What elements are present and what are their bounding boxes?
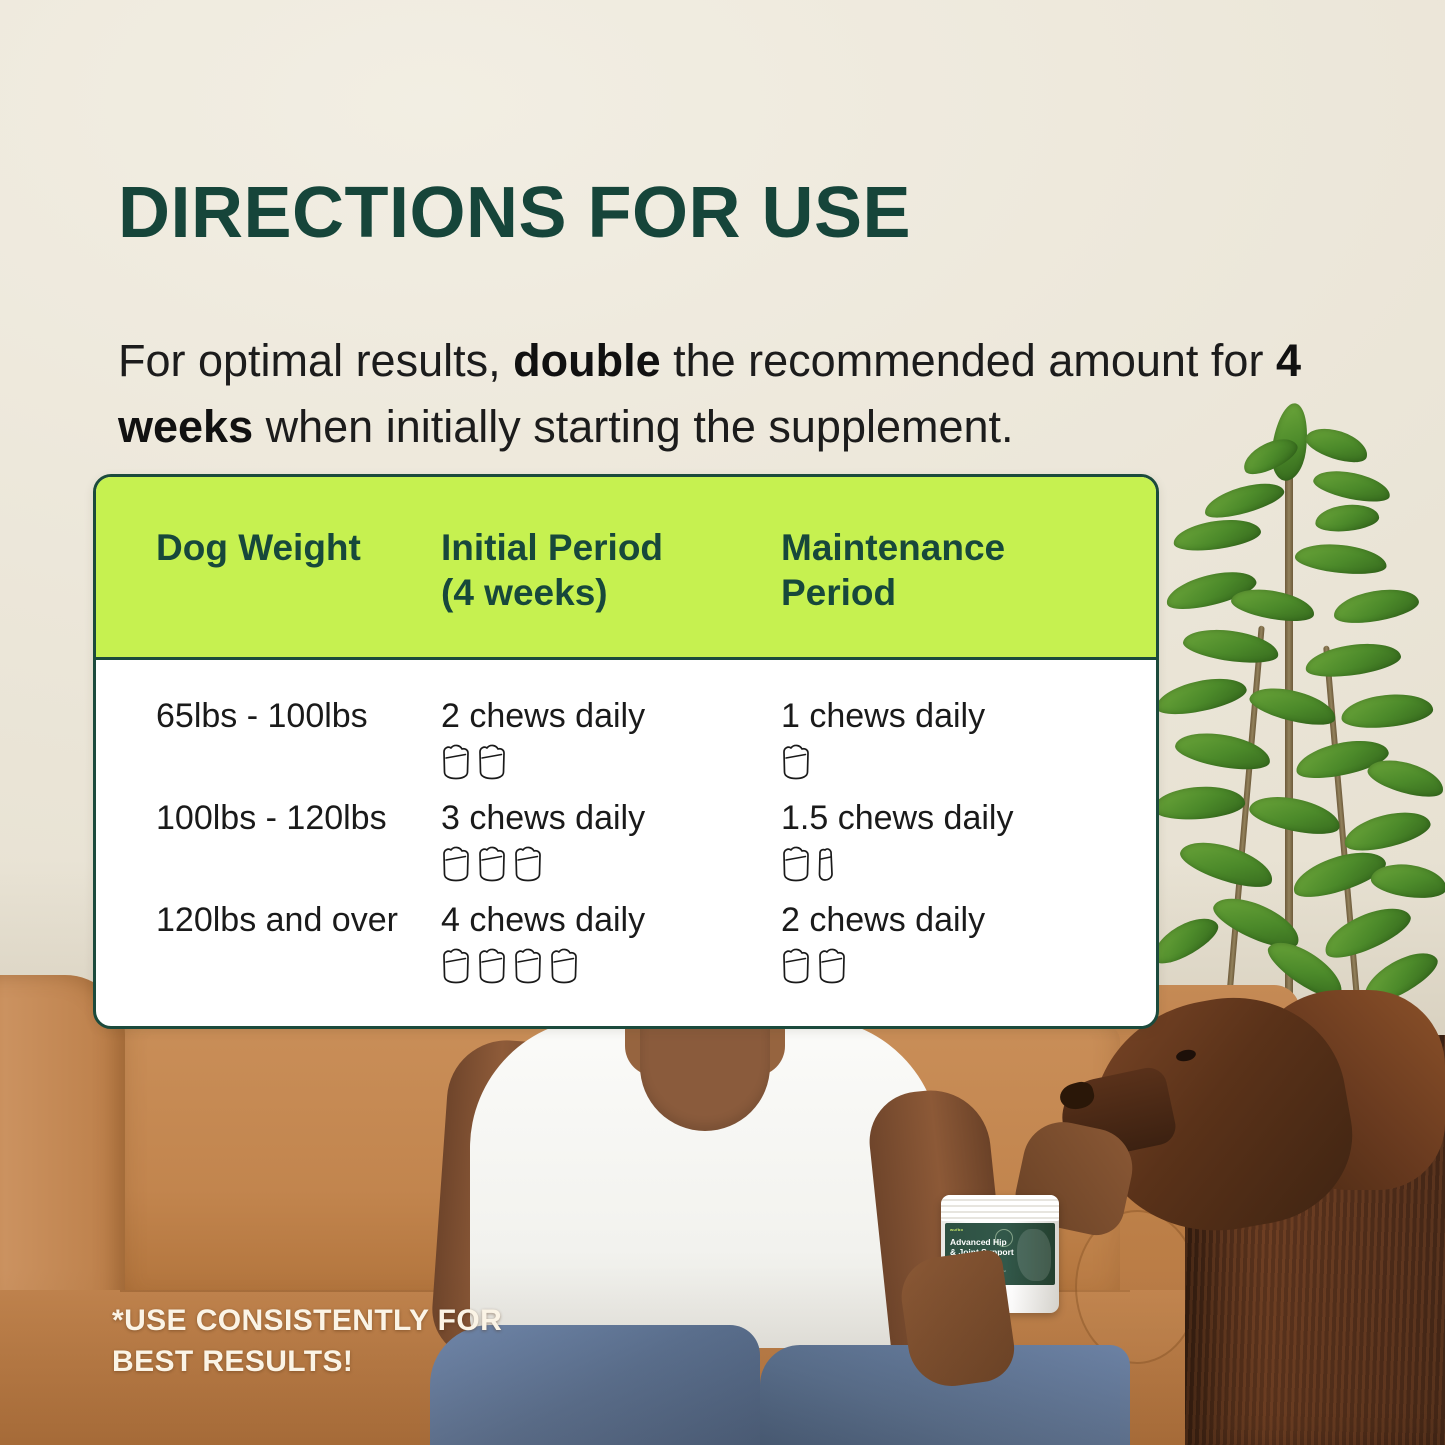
cell-maintenance: 1 chews daily [781,694,1156,782]
cell-initial: 4 chews daily [441,898,781,986]
chew-icon [513,844,543,882]
jar-lid [941,1195,1059,1221]
page-title: DIRECTIONS FOR USE [118,174,911,252]
subtitle-bold-double: double [513,335,660,386]
cell-maintenance: 2 chews daily [781,898,1156,986]
chew-icons-initial [441,844,781,884]
table-row: 100lbs - 120lbs 3 chews daily 1.5 chews … [96,788,1156,890]
chew-icon [441,742,471,780]
dosage-table: Dog Weight Initial Period (4 weeks) Main… [93,474,1159,1029]
cell-initial: 3 chews daily [441,796,781,884]
chew-icons-initial [441,742,781,782]
initial-period-line1: Initial Period [441,527,663,568]
cell-initial-text: 4 chews daily [441,898,781,942]
chew-icon [477,742,507,780]
product-infographic: wufbo Advanced Hip & Joint Support Prote… [0,0,1445,1445]
cell-maintenance-text: 1 chews daily [781,694,1156,738]
chew-icon [441,844,471,882]
cell-maintenance-text: 2 chews daily [781,898,1156,942]
column-header-maintenance-period: Maintenance Period [781,525,1156,615]
chew-icon [549,946,579,984]
half-chew-icon [817,844,834,882]
chew-icon [817,946,847,984]
footnote-line2: BEST RESULTS! [112,1345,353,1378]
subtitle-part1: For optimal results, [118,335,513,386]
chew-icons-maintenance [781,742,1156,782]
cell-dog-weight: 100lbs - 120lbs [96,796,441,840]
chew-icon [513,946,543,984]
chew-icons-maintenance [781,844,1156,884]
footnote-line1: *USE CONSISTENTLY FOR [112,1304,502,1337]
maintenance-period-line2: Period [781,572,896,613]
subtitle-part3: when initially starting the supplement. [253,401,1013,452]
dosage-table-body: 65lbs - 100lbs 2 chews daily 1 chews dai… [96,660,1156,1026]
chew-icon [477,844,507,882]
dosage-table-header-row: Dog Weight Initial Period (4 weeks) Main… [96,477,1156,660]
table-row: 120lbs and over 4 chews daily 2 chews da… [96,890,1156,992]
chew-icons-maintenance [781,946,1156,986]
cell-maintenance: 1.5 chews daily [781,796,1156,884]
footnote: *USE CONSISTENTLY FOR BEST RESULTS! [112,1300,502,1382]
column-header-initial-period: Initial Period (4 weeks) [441,525,781,615]
houseplant [1145,395,1445,1065]
jar-brand: wufbo [950,1227,963,1232]
table-row: 65lbs - 100lbs 2 chews daily 1 chews dai… [96,686,1156,788]
cell-maintenance-text: 1.5 chews daily [781,796,1156,840]
subtitle: For optimal results, double the recommen… [118,328,1348,460]
chew-icons-initial [441,946,781,986]
cell-dog-weight: 120lbs and over [96,898,441,942]
initial-period-line2: (4 weeks) [441,572,608,613]
cell-initial-text: 3 chews daily [441,796,781,840]
column-header-dog-weight: Dog Weight [96,525,441,615]
cell-initial: 2 chews daily [441,694,781,782]
subtitle-part2: the recommended amount for [661,335,1276,386]
jar-seal-icon [995,1229,1013,1247]
cell-initial-text: 2 chews daily [441,694,781,738]
chew-icon [477,946,507,984]
cell-dog-weight: 65lbs - 100lbs [96,694,441,738]
dog-silhouette-icon [1017,1229,1051,1281]
chew-icon [781,844,811,882]
maintenance-period-line1: Maintenance [781,527,1005,568]
chew-icon [441,946,471,984]
chew-icon [781,742,811,780]
chew-icon [781,946,811,984]
